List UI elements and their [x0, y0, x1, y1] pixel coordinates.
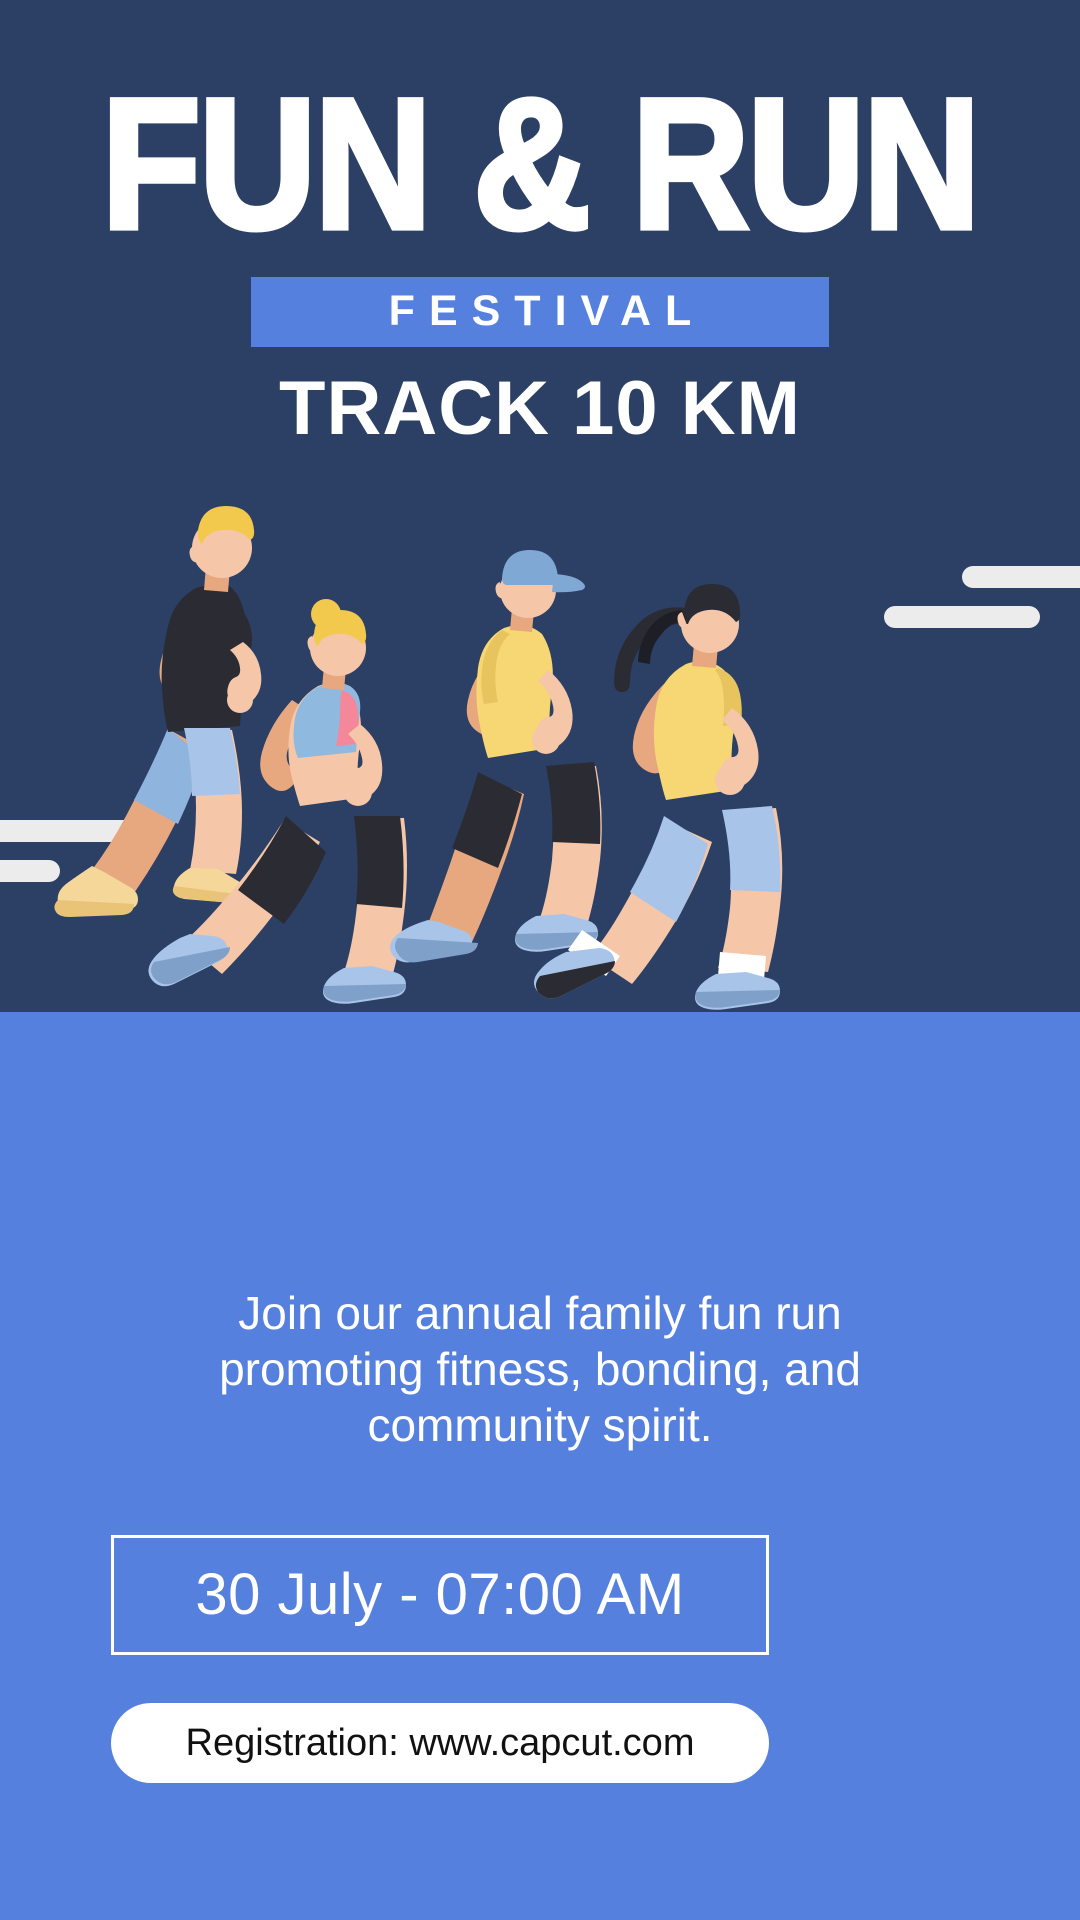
event-date-box: 30 July - 07:00 AM	[111, 1535, 769, 1655]
poster-root: FUN & RUN FESTIVAL TRACK 10 KM	[0, 0, 1080, 1920]
registration-button[interactable]: Registration: www.capcut.com	[111, 1703, 769, 1783]
description-line-2: promoting fitness, bonding, and	[80, 1341, 1000, 1397]
background-bottom-blue	[0, 1012, 1080, 1920]
page-title: FUN & RUN	[11, 80, 1069, 251]
festival-band: FESTIVAL	[251, 277, 829, 347]
runner-3-group	[390, 550, 602, 962]
registration-label: Registration: www.capcut.com	[186, 1724, 695, 1762]
headline-block: FUN & RUN FESTIVAL TRACK 10 KM	[0, 80, 1080, 449]
description-line-3: community spirit.	[80, 1397, 1000, 1453]
four-runners-illustration	[0, 500, 1080, 1040]
festival-label: FESTIVAL	[375, 290, 706, 333]
track-distance-label: TRACK 10 KM	[0, 369, 1080, 449]
runner-1-group	[54, 506, 261, 917]
event-date-time: 30 July - 07:00 AM	[195, 1566, 684, 1624]
runners-svg	[0, 500, 1080, 1040]
event-description: Join our annual family fun run promoting…	[80, 1285, 1000, 1453]
description-line-1: Join our annual family fun run	[80, 1285, 1000, 1341]
